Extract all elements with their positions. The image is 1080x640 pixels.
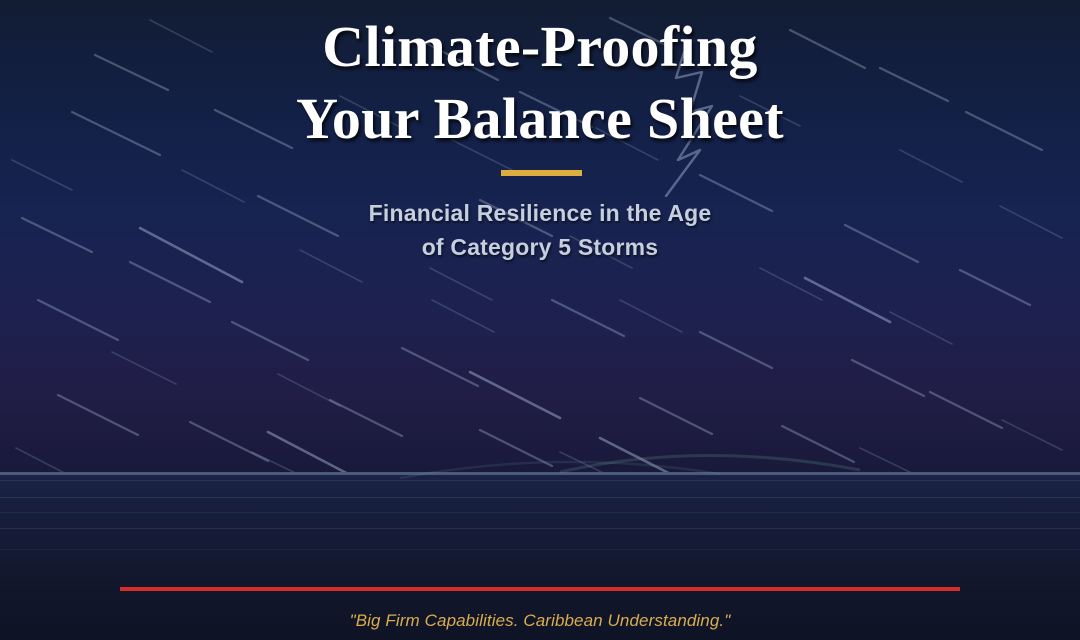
- tagline: "Big Firm Capabilities. Caribbean Unders…: [0, 610, 1080, 632]
- accent-divider: [501, 170, 582, 176]
- page-title: Climate-Proofing Your Balance Sheet: [0, 11, 1080, 155]
- page-subtitle: Financial Resilience in the Age of Categ…: [0, 196, 1080, 264]
- slide-content: Climate-Proofing Your Balance Sheet Fina…: [0, 0, 1080, 640]
- footer-divider: [120, 587, 960, 591]
- title-slide: Climate-Proofing Your Balance Sheet Fina…: [0, 0, 1080, 640]
